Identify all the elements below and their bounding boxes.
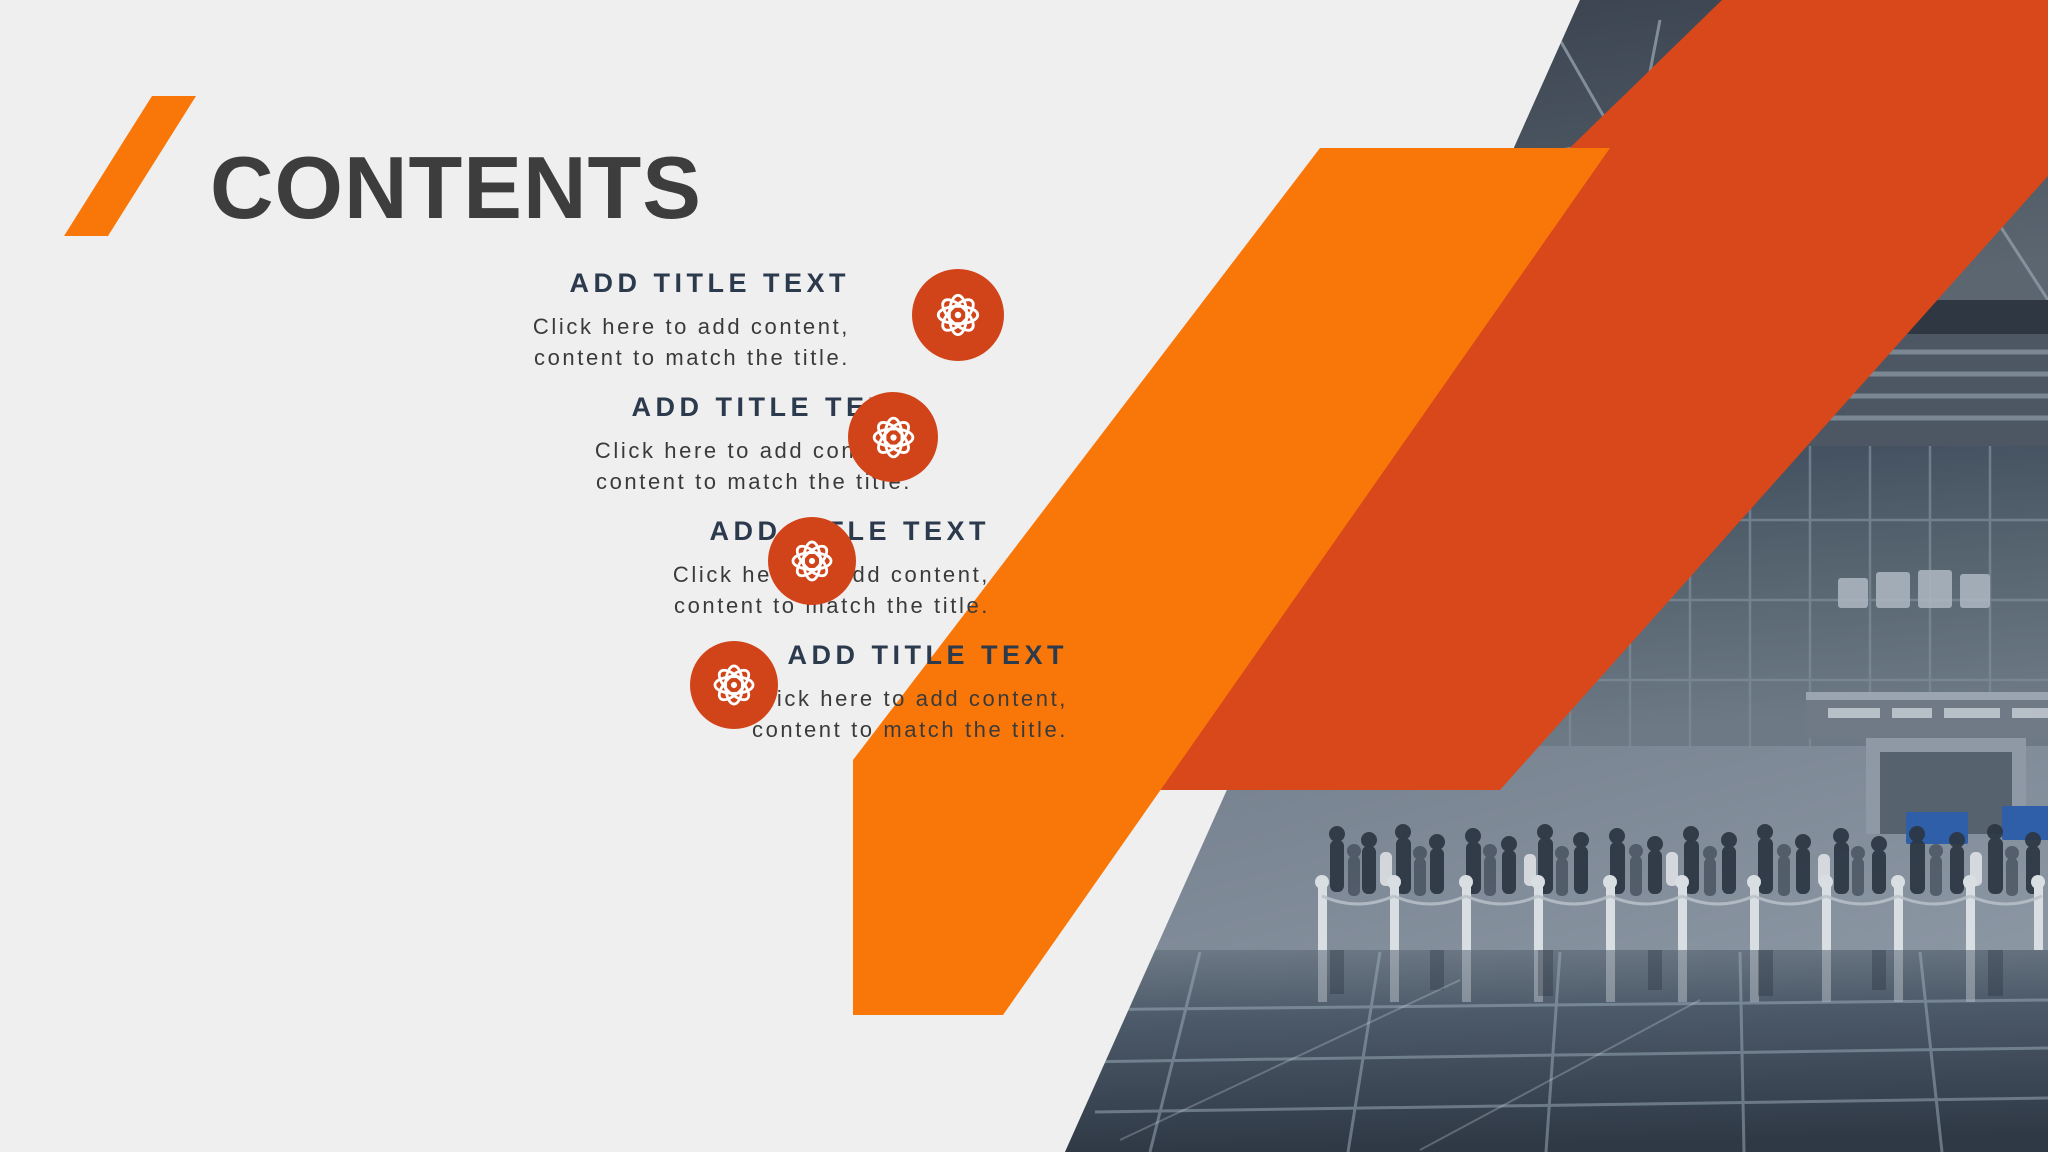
title-slash-icon <box>64 96 196 236</box>
content-item[interactable]: ADD TITLE TEXT Click here to add content… <box>150 392 850 516</box>
content-item[interactable]: ADD TITLE TEXT Click here to add content… <box>150 268 850 392</box>
content-item[interactable]: ADD TITLE TEXT Click here to add content… <box>150 640 850 764</box>
atom-icon-glyph <box>865 409 922 466</box>
atom-icon-glyph <box>929 286 987 344</box>
content-item-text: ADD TITLE TEXT Click here to add content… <box>751 640 1068 745</box>
slide: CONTENTS ADD TITLE TEXT Click here to ad… <box>0 0 2048 1152</box>
content-item[interactable]: ADD TITLE TEXT Click here to add content… <box>150 516 850 640</box>
slide-header: CONTENTS <box>64 96 702 236</box>
content-item-body-line2: content to match the title. <box>533 342 850 373</box>
content-item-title: ADD TITLE TEXT <box>533 268 850 299</box>
atom-icon-glyph <box>784 533 840 589</box>
photo-convention-center <box>1000 0 2048 1152</box>
atom-icon[interactable] <box>768 517 856 605</box>
atom-icon[interactable] <box>848 392 938 482</box>
content-item-text: ADD TITLE TEXT Click here to add content… <box>533 268 850 373</box>
content-item-body-line2: content to match the title. <box>751 714 1068 745</box>
atom-icon-glyph <box>706 657 762 713</box>
atom-icon[interactable] <box>690 641 778 729</box>
content-item-body-line1: Click here to add content, <box>751 683 1068 714</box>
content-item-title: ADD TITLE TEXT <box>751 640 1068 671</box>
band-dark-orange <box>1105 0 2048 790</box>
content-item-body-line1: Click here to add content, <box>533 311 850 342</box>
atom-icon[interactable] <box>912 269 1004 361</box>
page-title: CONTENTS <box>210 147 702 230</box>
contents-list: ADD TITLE TEXT Click here to add content… <box>150 268 850 764</box>
